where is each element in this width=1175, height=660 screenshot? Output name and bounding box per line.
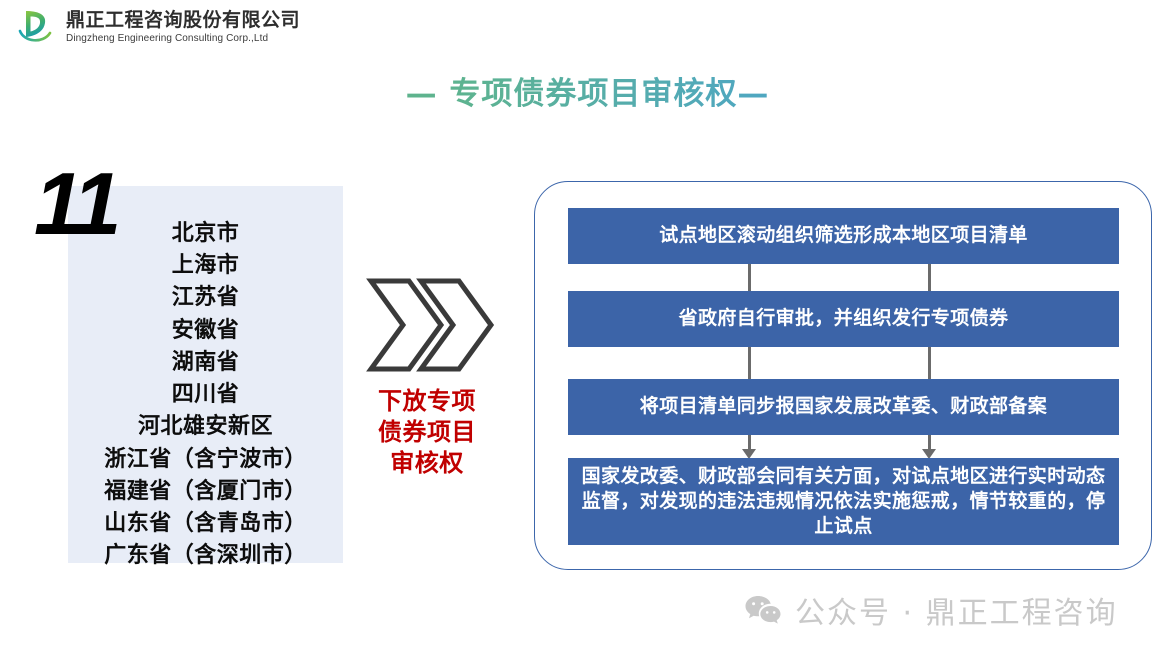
transfer-caption: 下放专项债券项目审核权 — [352, 386, 502, 480]
province-item: 上海市 — [68, 250, 343, 282]
connector-line — [748, 264, 751, 291]
province-item: 四川省 — [68, 379, 343, 411]
province-item: 河北雄安新区 — [68, 411, 343, 443]
page-title: — 专项债券项目审核权— — [0, 68, 1175, 113]
transfer-caption-line: 下放专项 — [352, 386, 502, 417]
flow-step-1: 试点地区滚动组织筛选形成本地区项目清单 — [568, 208, 1119, 264]
brand-header: 鼎正工程咨询股份有限公司 Dingzheng Engineering Consu… — [16, 6, 300, 48]
wechat-icon — [745, 594, 781, 626]
double-chevron-right-icon — [365, 275, 495, 375]
dingzheng-leaf-logo-icon — [16, 6, 58, 48]
connector-line — [928, 435, 931, 450]
wechat-watermark: 公众号 · 鼎正工程咨询 — [745, 588, 1118, 632]
province-item: 福建省（含厦门市） — [68, 476, 343, 508]
province-item: 广东省（含深圳市） — [68, 540, 343, 572]
province-list: 北京市上海市江苏省安徽省湖南省四川省河北雄安新区浙江省（含宁波市）福建省（含厦门… — [68, 218, 343, 572]
connector-line — [928, 347, 931, 379]
flow-step-2: 省政府自行审批，并组织发行专项债券 — [568, 291, 1119, 347]
province-item: 江苏省 — [68, 282, 343, 314]
flow-steps-container: 试点地区滚动组织筛选形成本地区项目清单 省政府自行审批，并组织发行专项债券 将项… — [568, 208, 1119, 545]
connector-line — [928, 264, 931, 291]
transfer-caption-line: 审核权 — [352, 448, 502, 479]
brand-name-en: Dingzheng Engineering Consulting Corp.,L… — [66, 34, 300, 44]
province-item: 浙江省（含宁波市） — [68, 444, 343, 476]
brand-name-cn: 鼎正工程咨询股份有限公司 — [66, 11, 300, 30]
flow-step-3: 将项目清单同步报国家发展改革委、财政部备案 — [568, 379, 1119, 435]
flow-step-4: 国家发改委、财政部会同有关方面，对试点地区进行实时动态监督，对发现的违法违规情况… — [568, 458, 1119, 545]
connector-line — [748, 435, 751, 450]
watermark-text: 公众号 · 鼎正工程咨询 — [795, 588, 1118, 632]
transfer-caption-line: 债券项目 — [352, 417, 502, 448]
province-item: 山东省（含青岛市） — [68, 508, 343, 540]
province-item: 安徽省 — [68, 315, 343, 347]
connector-line — [748, 347, 751, 379]
count-badge: 11 — [34, 160, 117, 248]
province-item: 湖南省 — [68, 347, 343, 379]
brand-text-block: 鼎正工程咨询股份有限公司 Dingzheng Engineering Consu… — [66, 11, 300, 44]
